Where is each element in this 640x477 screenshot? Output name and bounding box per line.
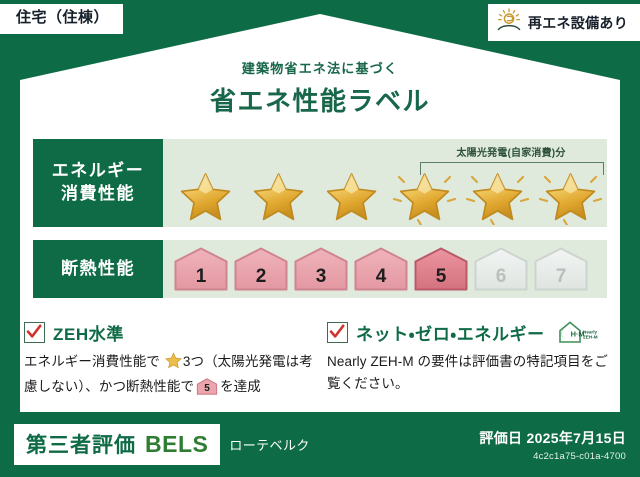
builder-name: ローテベルク [229,435,309,454]
insulation-level-number: 6 [496,267,507,291]
evaluation-id: 4c2c1a75-c01a-4700 [479,451,626,462]
criteria-notes: ZEH水準 エネルギー消費性能で 3つ（太陽光発電は考慮しない）、かつ断熱性能で… [24,320,616,402]
inline-level-number: 5 [196,384,218,394]
insulation-level-number: 3 [316,267,327,291]
note-text-part2: 3つ（太陽光発電 [183,354,286,369]
bels-jp-label: 第三者評価 [26,429,136,459]
insulation-level-badge: 7 [533,247,589,291]
star-icon [388,163,461,225]
energy-name-line1: エネルギー [52,160,145,183]
evaluation-date: 評価日 2025年7月15日 [479,428,626,448]
energy-name-line2: 消費性能 [61,183,135,206]
note-net-zero-energy-header: ネット・ゼロ・エネルギー H·M Nearly ZEH-M [327,320,616,344]
solar-sun-icon [496,8,522,37]
building-type-label: 住宅（住棟） [16,9,109,26]
note-net-zero-energy: ネット・ゼロ・エネルギー H·M Nearly ZEH-M Nearly ZEH… [327,320,616,402]
renewable-equipment-label: 再エネ設備あり [528,13,628,33]
star-icon [534,163,607,225]
evaluation-info: 評価日 2025年7月15日 4c2c1a75-c01a-4700 [479,428,626,462]
insulation-level-badge: 1 [173,247,229,291]
svg-text:ZEH-M: ZEH-M [583,335,598,340]
label-heading: 建築物省エネ法に基づく 省エネ性能ラベル [0,58,640,118]
star-icon [169,163,242,225]
insulation-level-strip: 1 2 3 [163,247,589,291]
energy-performance-row: エネルギー 消費性能 太陽光発電(自家消費)分 [33,139,607,227]
heading-title: 省エネ性能ラベル [0,81,640,118]
star-icon [242,163,315,225]
inline-level-badge: 5 [196,378,218,395]
insulation-level-badge: 3 [293,247,349,291]
note-net-zero-energy-title: ネット・ゼロ・エネルギー [356,320,545,345]
building-type-tag: 住宅（住棟） [0,4,123,34]
insulation-performance-label-cell: 断熱性能 [33,240,163,298]
renewable-equipment-badge: 再エネ設備あり [488,4,640,41]
checkbox-zeh-standard [24,322,45,343]
check-icon [26,324,42,340]
zeh-m-logo: H·M Nearly ZEH-M [556,319,602,345]
energy-performance-value-cell: 太陽光発電(自家消費)分 [163,139,607,227]
insulation-level-number: 5 [436,267,447,291]
note-zeh-standard: ZEH水準 エネルギー消費性能で 3つ（太陽光発電は考慮しない）、かつ断熱性能で… [24,320,313,402]
star-rating: 太陽光発電(自家消費)分 [163,139,607,227]
insulation-level-number: 7 [556,267,567,291]
insulation-level-badge: 6 [473,247,529,291]
inline-star-icon [161,357,182,372]
note-text-part4: を達成 [220,379,261,394]
heading-subtitle: 建築物省エネ法に基づく [0,58,640,77]
insulation-performance-row: 断熱性能 1 [33,240,607,298]
note-zeh-standard-title: ZEH水準 [53,320,124,345]
insulation-level-number: 2 [256,267,267,291]
star-icon [461,163,534,225]
check-icon [329,324,345,340]
star-strip [169,163,607,225]
checkbox-net-zero-energy [327,322,348,343]
energy-performance-label: 住宅（住棟） 再エネ設備あり 建築物省エネ法に基づく [0,0,640,477]
note-net-zero-energy-body: Nearly ZEH-M の要件は評価書の特記項目をご覧ください。 [327,351,616,395]
insulation-level-badge: 2 [233,247,289,291]
note-text-part1: エネルギー消費性能で [24,354,160,369]
solar-bracket-caption: 太陽光発電(自家消費)分 [403,144,619,159]
insulation-level-badge: 5 [413,247,469,291]
bels-certification-box: 第三者評価 BELS [14,424,220,465]
insulation-level-number: 4 [376,267,387,291]
bels-en-label: BELS [145,431,208,458]
insulation-performance-value-cell: 1 2 3 [163,240,607,298]
note-zeh-standard-body: エネルギー消費性能で 3つ（太陽光発電は考慮しない）、かつ断熱性能で 5を達成 [24,351,313,398]
insulation-level-number: 1 [196,267,207,291]
insulation-level-badge: 4 [353,247,409,291]
bottom-bar: 第三者評価 BELS ローテベルク 評価日 2025年7月15日 4c2c1a7… [0,412,640,477]
energy-performance-label-cell: エネルギー 消費性能 [33,139,163,227]
insulation-name: 断熱性能 [61,258,135,281]
note-zeh-standard-header: ZEH水準 [24,320,313,344]
star-icon [315,163,388,225]
